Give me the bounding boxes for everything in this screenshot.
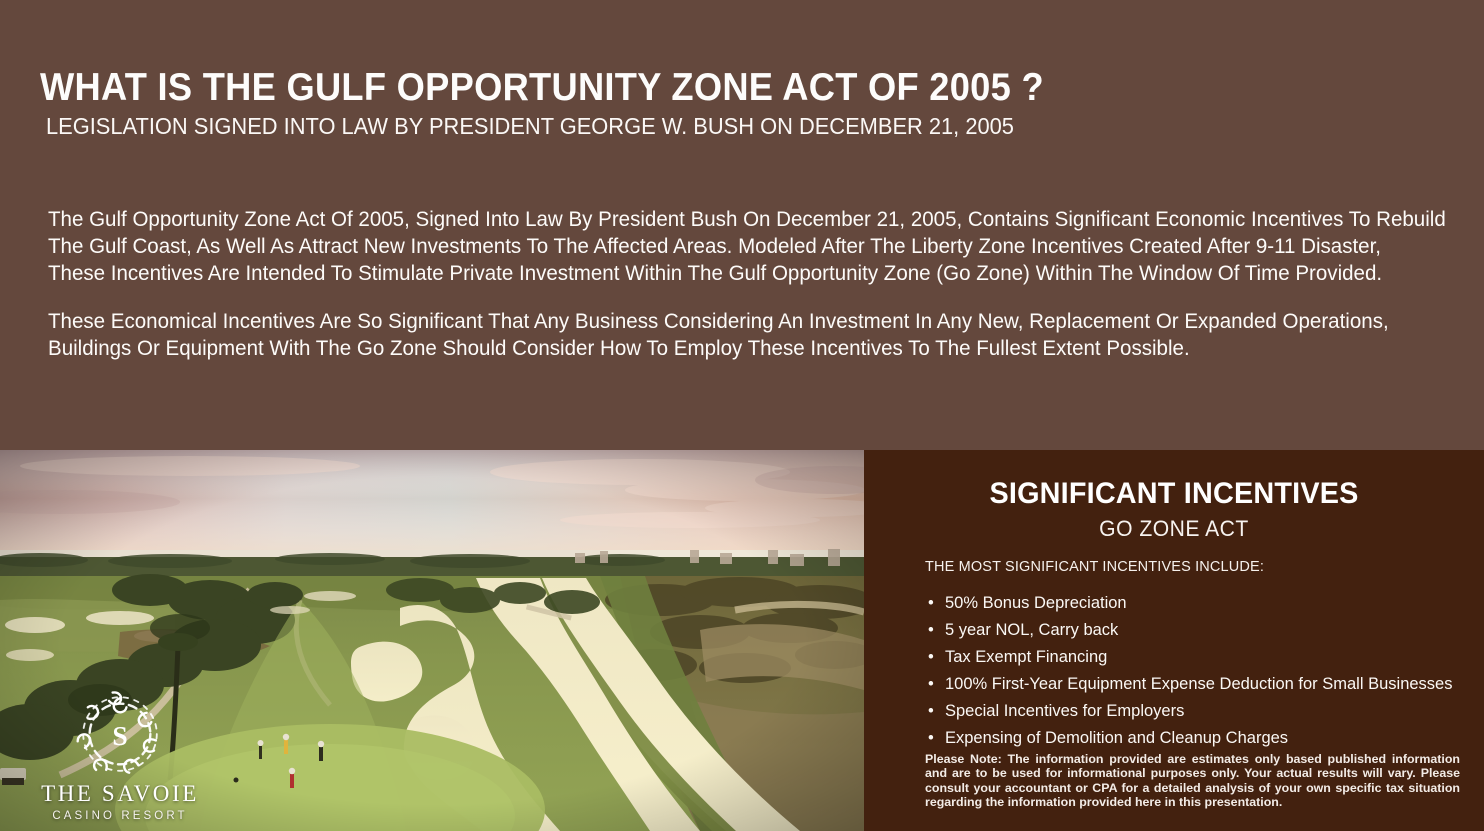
bullet-icon: •	[928, 590, 934, 617]
panel-lead-text: THE MOST SIGNIFICANT INCENTIVES INCLUDE:	[925, 559, 1264, 575]
bullet-icon: •	[928, 644, 934, 671]
incentives-panel: SIGNIFICANT INCENTIVES GO ZONE ACT THE M…	[864, 450, 1484, 831]
list-item: • 100% First-Year Equipment Expense Dedu…	[926, 671, 1476, 698]
list-item: • 5 year NOL, Carry back	[926, 617, 1476, 644]
list-item: • Special Incentives for Employers	[926, 698, 1476, 725]
paragraph-1-line-1: The Gulf Opportunity Zone Act Of 2005, S…	[48, 206, 1385, 233]
list-item-label: 100% First-Year Equipment Expense Deduct…	[945, 675, 1452, 693]
paragraph-1-line-3: These Incentives Are Intended To Stimula…	[48, 260, 1385, 287]
panel-title: SIGNIFICANT INCENTIVES	[876, 477, 1471, 511]
list-item: • Tax Exempt Financing	[926, 644, 1476, 671]
page-subtitle: LEGISLATION SIGNED INTO LAW BY PRESIDENT…	[46, 113, 1014, 140]
list-item: • Expensing of Demolition and Cleanup Ch…	[926, 725, 1476, 752]
disclaimer-note: Please Note: The information provided ar…	[925, 752, 1460, 809]
bullet-icon: •	[928, 725, 934, 752]
list-item: • 50% Bonus Depreciation	[926, 590, 1476, 617]
golf-course-illustration	[0, 450, 864, 831]
header-section: WHAT IS THE GULF OPPORTUNITY ZONE ACT OF…	[0, 0, 1484, 450]
bullet-icon: •	[928, 698, 934, 725]
bullet-icon: •	[928, 671, 934, 698]
paragraph-1-line-2: The Gulf Coast, As Well As Attract New I…	[48, 233, 1385, 260]
body-paragraph-2: These Economical Incentives Are So Signi…	[48, 308, 1385, 362]
body-paragraph-1: The Gulf Opportunity Zone Act Of 2005, S…	[48, 206, 1385, 287]
paragraph-2-line-2: Buildings Or Equipment With The Go Zone …	[48, 335, 1385, 362]
incentives-list: • 50% Bonus Depreciation • 5 year NOL, C…	[926, 590, 1476, 752]
page-title: WHAT IS THE GULF OPPORTUNITY ZONE ACT OF…	[40, 66, 1044, 110]
list-item-label: 5 year NOL, Carry back	[945, 621, 1118, 639]
list-item-label: Expensing of Demolition and Cleanup Char…	[945, 729, 1288, 747]
bullet-icon: •	[928, 617, 934, 644]
panel-subtitle: GO ZONE ACT	[876, 516, 1471, 542]
golf-course-photo	[0, 450, 864, 831]
paragraph-2-line-1: These Economical Incentives Are So Signi…	[48, 308, 1385, 335]
list-item-label: Tax Exempt Financing	[945, 648, 1107, 666]
list-item-label: Special Incentives for Employers	[945, 702, 1184, 720]
list-item-label: 50% Bonus Depreciation	[945, 594, 1127, 612]
slide: WHAT IS THE GULF OPPORTUNITY ZONE ACT OF…	[0, 0, 1484, 831]
